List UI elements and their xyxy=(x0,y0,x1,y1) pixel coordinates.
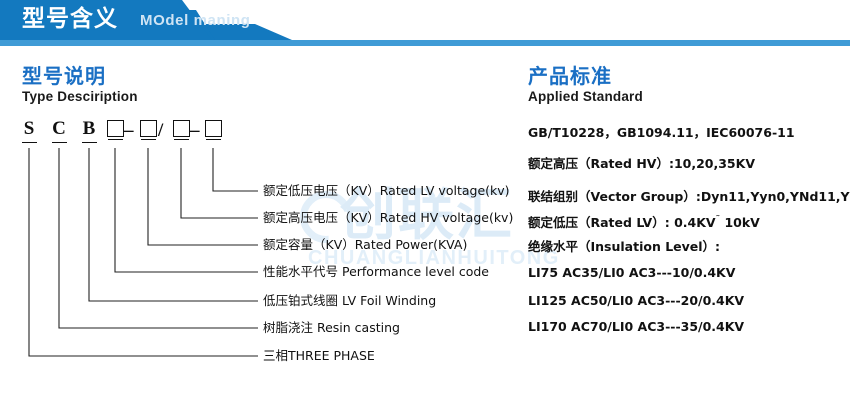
rated-lv-upper-value: 10kV xyxy=(720,215,760,230)
leader-label: 额定低压电压（KV）Rated LV voltage(kv) xyxy=(263,183,510,199)
applied-standard-line: LI75 AC35/LI0 AC3---10/0.4KV xyxy=(528,264,735,281)
applied-standard-line: GB/T10228，GB1094.11，IEC60076-11 xyxy=(528,124,795,141)
leader-line xyxy=(29,148,258,356)
leader-label: 性能水平代号 Performance level code xyxy=(263,264,489,280)
leader-label: 低压铂式线圈 LV Foil Winding xyxy=(263,293,436,309)
leader-line xyxy=(89,148,258,301)
right-section-heading-en: Applied Standard xyxy=(528,88,643,106)
leader-line xyxy=(115,148,258,272)
leader-line xyxy=(181,148,258,218)
model-designation-diagram: 型号含义 MOdel maning 创联汇 CHUANGLIANHUITONG … xyxy=(0,0,850,400)
applied-standard-line: LI125 AC50/LI0 AC3---20/0.4KV xyxy=(528,292,744,309)
applied-standard-line: LI170 AC70/LI0 AC3---35/0.4KV xyxy=(528,318,744,335)
right-section-heading-cn: 产品标准 xyxy=(528,63,612,89)
leader-lines xyxy=(0,0,520,400)
leader-label: 额定高压电压（KV）Rated HV voltage(kv) xyxy=(263,210,513,226)
applied-standard-line-text: 额定低压（Rated LV）: 0.4KV xyxy=(528,215,716,230)
applied-standard-line: 绝缘水平（Insulation Level）: xyxy=(528,238,720,255)
leader-label: 三相THREE PHASE xyxy=(263,348,375,364)
applied-standard-line: 额定低压（Rated LV）: 0.4KV˜ 10kV xyxy=(528,212,760,231)
applied-standard-line: 额定高压（Rated HV）:10,20,35KV xyxy=(528,155,755,172)
leader-label: 额定容量（KV）Rated Power(KVA) xyxy=(263,237,467,253)
leader-line xyxy=(148,148,258,245)
leader-label: 树脂浇注 Resin casting xyxy=(263,320,400,336)
applied-standard-line: 联结组别（Vector Group）:Dyn11,Yyn0,YNd11,Yd11 xyxy=(528,188,850,205)
leader-line xyxy=(213,148,258,191)
